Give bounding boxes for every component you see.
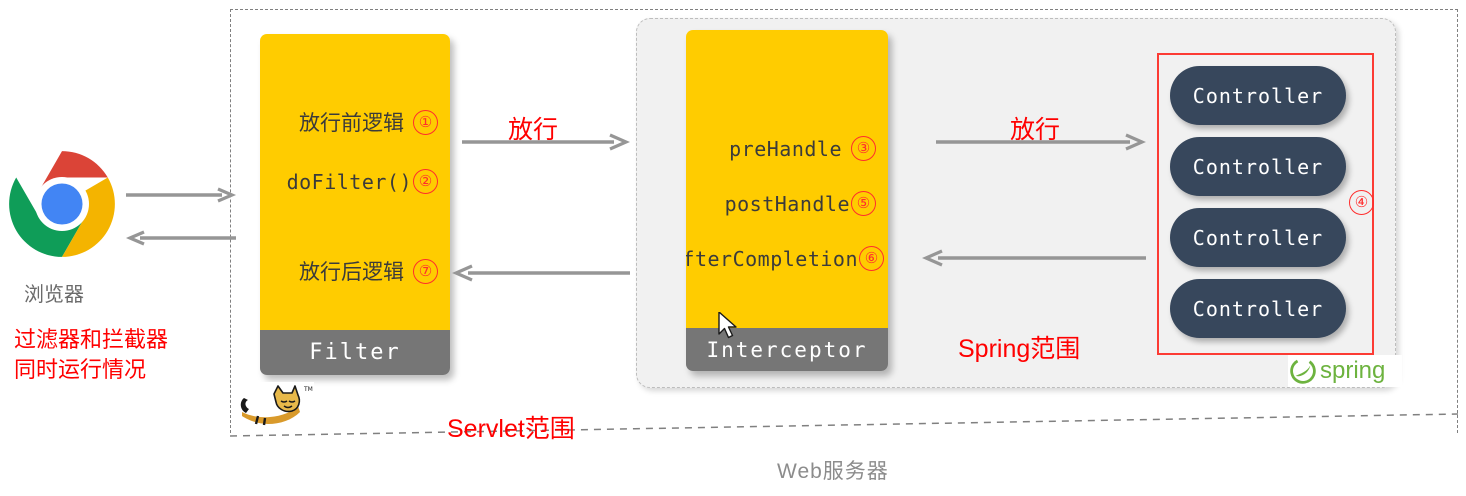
- controller-pill-2[interactable]: Controller: [1170, 208, 1346, 267]
- interceptor-row-2-label: afterCompletion: [686, 247, 858, 271]
- interceptor-box[interactable]: preHandle ③ postHandle ⑤ afterCompletion…: [686, 30, 888, 371]
- filter-row-0: 放行前逻辑 ①: [299, 107, 438, 137]
- interceptor-to-controller-arrow: [936, 137, 1148, 147]
- filter-row-0-label: 放行前逻辑: [299, 107, 404, 137]
- interceptor-to-filter-arrow: [452, 268, 632, 278]
- browser-to-filter-arrow: [126, 190, 236, 200]
- interceptor-row-2-number: ⑥: [859, 246, 884, 271]
- controller-pill-1[interactable]: Controller: [1170, 137, 1346, 196]
- interceptor-row-2: afterCompletion ⑥: [686, 246, 884, 271]
- filter-row-2-number: ⑦: [413, 259, 438, 284]
- filter-body: 放行前逻辑 ① doFilter() ② 放行后逻辑 ⑦: [260, 34, 450, 330]
- filter-row-1-label: doFilter(): [287, 170, 412, 194]
- scenario-title-line2: 同时运行情况: [14, 355, 168, 385]
- spring-logo: spring: [1288, 355, 1402, 387]
- filter-row-1-number: ②: [413, 169, 438, 194]
- scenario-title-line1: 过滤器和拦截器: [14, 325, 168, 355]
- filter-footer-label: Filter: [260, 330, 450, 375]
- controller-group-number: ④: [1349, 190, 1374, 215]
- controller-to-interceptor-arrow: [920, 253, 1150, 263]
- controller-pill-3[interactable]: Controller: [1170, 279, 1346, 338]
- web-server-boundary-bottom-line: [230, 414, 1460, 444]
- filter-row-0-number: ①: [413, 110, 438, 135]
- controller-group: Controller Controller Controller Control…: [1157, 53, 1374, 355]
- spring-wordmark: spring: [1320, 359, 1385, 383]
- interceptor-row-0: preHandle ③: [729, 136, 876, 161]
- interceptor-row-1: postHandle ⑤: [725, 191, 876, 216]
- svg-text:TM: TM: [303, 386, 313, 393]
- servlet-scope-label: Servlet范围: [447, 409, 575, 445]
- filter-row-1: doFilter() ②: [287, 169, 438, 194]
- interceptor-body: preHandle ③ postHandle ⑤ afterCompletion…: [686, 30, 888, 328]
- filter-row-2: 放行后逻辑 ⑦: [299, 256, 438, 286]
- chrome-logo-icon: [8, 150, 116, 258]
- filter-row-2-label: 放行后逻辑: [299, 256, 404, 286]
- interceptor-row-1-number: ⑤: [851, 191, 876, 216]
- interceptor-row-0-label: preHandle: [729, 137, 842, 161]
- interceptor-row-0-number: ③: [851, 136, 876, 161]
- filter-box[interactable]: 放行前逻辑 ① doFilter() ② 放行后逻辑 ⑦ Filter: [260, 34, 450, 375]
- filter-to-interceptor-arrow: [462, 137, 632, 147]
- controller-pill-0[interactable]: Controller: [1170, 66, 1346, 125]
- filter-to-browser-arrow: [126, 233, 236, 243]
- interceptor-row-1-label: postHandle: [725, 192, 850, 216]
- tomcat-logo-icon: TM: [236, 382, 314, 430]
- spring-scope-label: Spring范围: [958, 329, 1080, 365]
- web-server-label: Web服务器: [777, 455, 889, 485]
- interceptor-footer-label: Interceptor: [686, 328, 888, 371]
- mouse-cursor-icon: [718, 312, 740, 342]
- browser-label: 浏览器: [24, 278, 84, 307]
- spring-leaf-icon: [1290, 358, 1316, 384]
- scenario-title: 过滤器和拦截器 同时运行情况: [14, 325, 168, 385]
